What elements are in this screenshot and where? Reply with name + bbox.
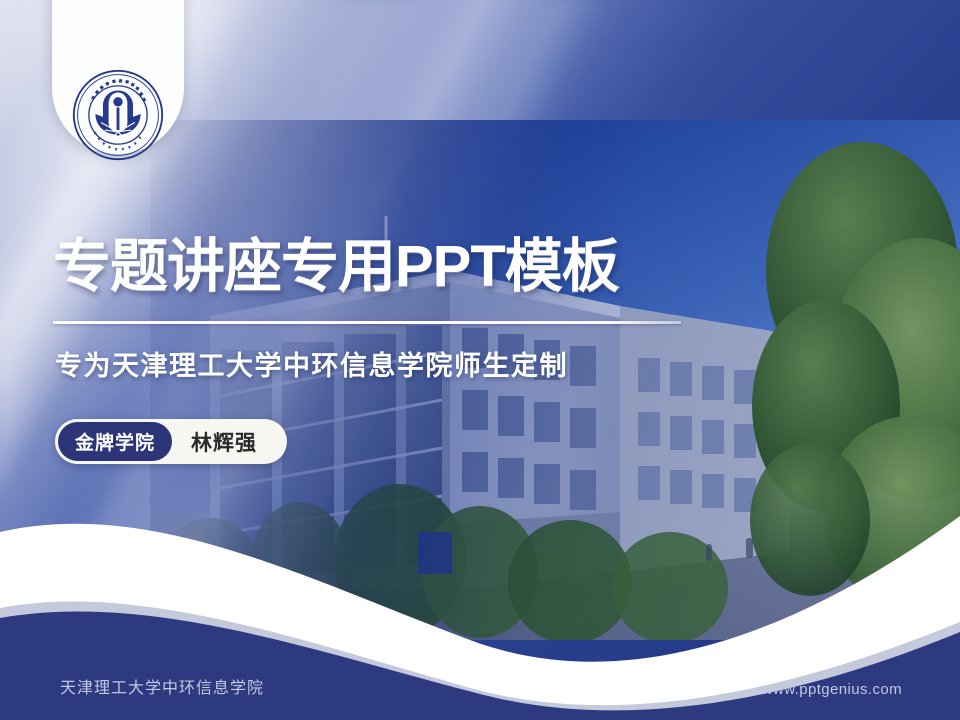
footer-institution: 天津理工大学中环信息学院: [60, 674, 264, 698]
author-badge: 金牌学院 林辉强: [55, 419, 287, 464]
badge-author-name: 林辉强: [172, 427, 279, 457]
badge-tag: 金牌学院: [58, 422, 172, 461]
ppt-cover-slide: 专题讲座专用PPT模板 专为天津理工大学中环信息学院师生定制 金牌学院 林辉强 …: [0, 0, 960, 720]
headline-block: 专题讲座专用PPT模板 专为天津理工大学中环信息学院师生定制: [53, 236, 753, 383]
slide-title: 专题讲座专用PPT模板: [53, 236, 753, 299]
university-crest-icon: [71, 68, 165, 162]
logo-panel: [52, 0, 184, 154]
title-divider: [53, 321, 681, 324]
slide-subtitle: 专为天津理工大学中环信息学院师生定制: [55, 344, 753, 383]
footer-website[interactable]: www.pptgenius.com: [762, 681, 902, 698]
